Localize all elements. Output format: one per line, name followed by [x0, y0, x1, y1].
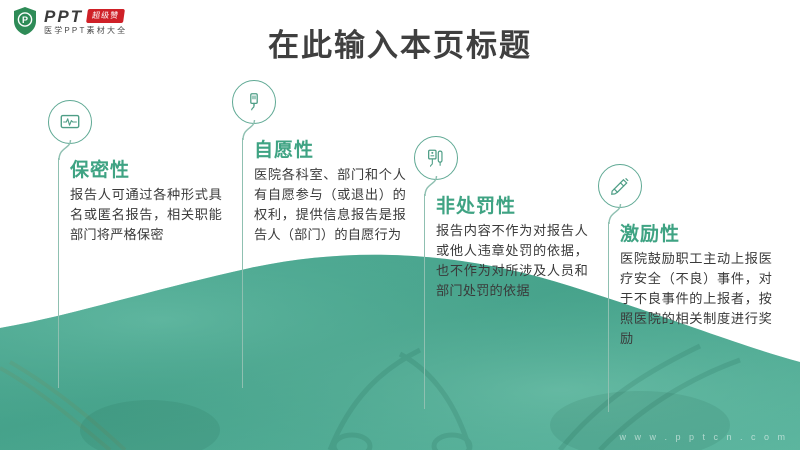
infusion-pump-icon	[414, 136, 458, 180]
feature-body-4: 医院鼓励职工主动上报医疗安全（不良）事件，对于不良事件的上报者，按照医院的相关制…	[620, 249, 772, 349]
ecg-monitor-icon	[48, 100, 92, 144]
feature-heading-4: 激励性	[620, 219, 680, 246]
feature-body-3: 报告内容不作为对报告人或他人违章处罚的依据，也不作为对所涉及人员和部门处罚的依据	[436, 221, 588, 301]
connector-line-4	[608, 222, 609, 412]
iv-drip-icon	[232, 80, 276, 124]
connector-line-2	[242, 138, 243, 388]
page-title: 在此输入本页标题	[0, 20, 800, 65]
syringe-icon	[598, 164, 642, 208]
feature-heading-3: 非处罚性	[436, 191, 516, 218]
feature-body-2: 医院各科室、部门和个人有自愿参与（或退出）的权利，提供信息报告是报告人（部门）的…	[254, 165, 406, 245]
site-watermark: w w w . p p t c n . c o m	[619, 432, 788, 442]
connector-line-1	[58, 158, 59, 388]
connector-line-3	[424, 194, 425, 409]
feature-columns: 保密性 报告人可通过各种形式具名或匿名报告，相关职能部门将严格保密 自愿性 医院	[0, 0, 800, 450]
feature-heading-2: 自愿性	[254, 135, 314, 162]
feature-body-1: 报告人可通过各种形式具名或匿名报告，相关职能部门将严格保密	[70, 185, 222, 245]
slide-canvas: P PPT 超级赞 医学PPT素材大全 在此输入本页标题	[0, 0, 800, 450]
feature-heading-1: 保密性	[70, 155, 130, 182]
